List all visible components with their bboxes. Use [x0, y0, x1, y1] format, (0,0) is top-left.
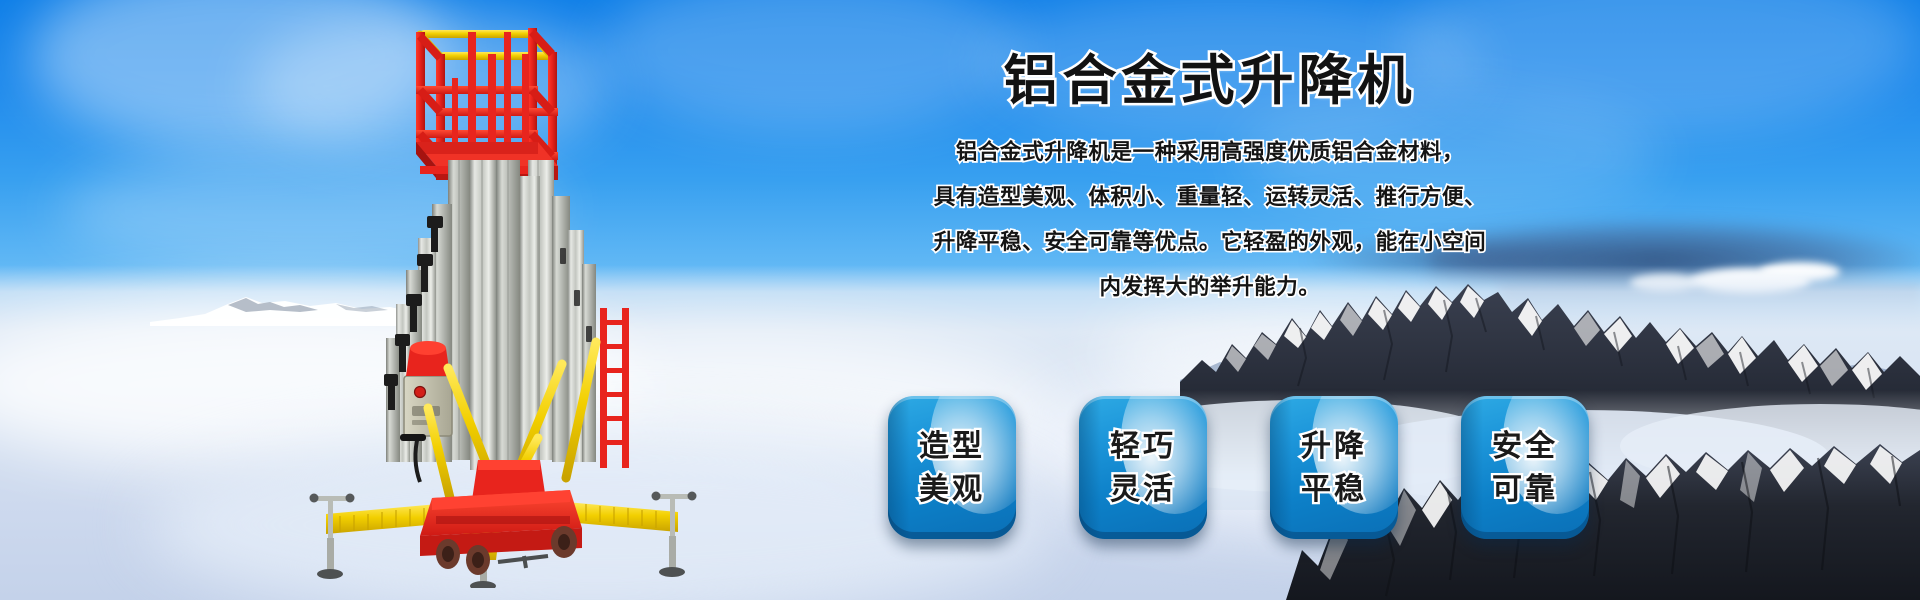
tow-handle [498, 556, 548, 568]
feature-badge-4-line2: 可靠 [1492, 468, 1558, 511]
description-line-2: 具有造型美观、体积小、重量轻、运转灵活、推行方便、 [900, 175, 1520, 220]
feature-badge-2[interactable]: 轻巧 灵活 [1079, 396, 1207, 539]
base-chassis [310, 490, 697, 588]
copy-block: 铝合金式升降机 铝合金式升降机是一种采用高强度优质铝合金材料， 具有造型美观、体… [900, 50, 1520, 310]
access-ladder [600, 308, 629, 468]
product-description: 铝合金式升降机是一种采用高强度优质铝合金材料， 具有造型美观、体积小、重量轻、运… [900, 130, 1520, 310]
feature-badge-3-line1: 升降 [1301, 425, 1367, 468]
page-title: 铝合金式升降机 [900, 50, 1520, 112]
description-line-4: 内发挥大的举升能力。 [900, 265, 1520, 310]
feature-badge-4-line1: 安全 [1492, 425, 1558, 468]
feature-badge-1-line1: 造型 [919, 425, 985, 468]
outrigger-foot [652, 492, 697, 578]
feature-badge-2-line1: 轻巧 [1110, 425, 1176, 468]
promo-banner: 铝合金式升降机 铝合金式升降机是一种采用高强度优质铝合金材料， 具有造型美观、体… [0, 0, 1920, 600]
feature-badge-3-line2: 平稳 [1301, 468, 1367, 511]
feature-badge-4[interactable]: 安全 可靠 [1461, 396, 1589, 539]
outrigger-foot [310, 494, 355, 580]
feature-badge-1[interactable]: 造型 美观 [888, 396, 1016, 539]
feature-badge-1-line2: 美观 [919, 468, 985, 511]
feature-badge-list: 造型 美观 轻巧 灵活 升降 平稳 安全 可靠 [888, 396, 1589, 539]
caster-wheel [466, 545, 490, 575]
feature-badge-2-line2: 灵活 [1110, 468, 1176, 511]
description-line-3: 升降平稳、安全可靠等优点。它轻盈的外观，能在小空间 [900, 220, 1520, 265]
description-line-1: 铝合金式升降机是一种采用高强度优质铝合金材料， [900, 130, 1520, 175]
caster-wheel [436, 539, 460, 569]
caster-wheel [551, 526, 577, 558]
feature-badge-3[interactable]: 升降 平稳 [1270, 396, 1398, 539]
aluminium-alloy-lift-illustration [300, 8, 720, 588]
